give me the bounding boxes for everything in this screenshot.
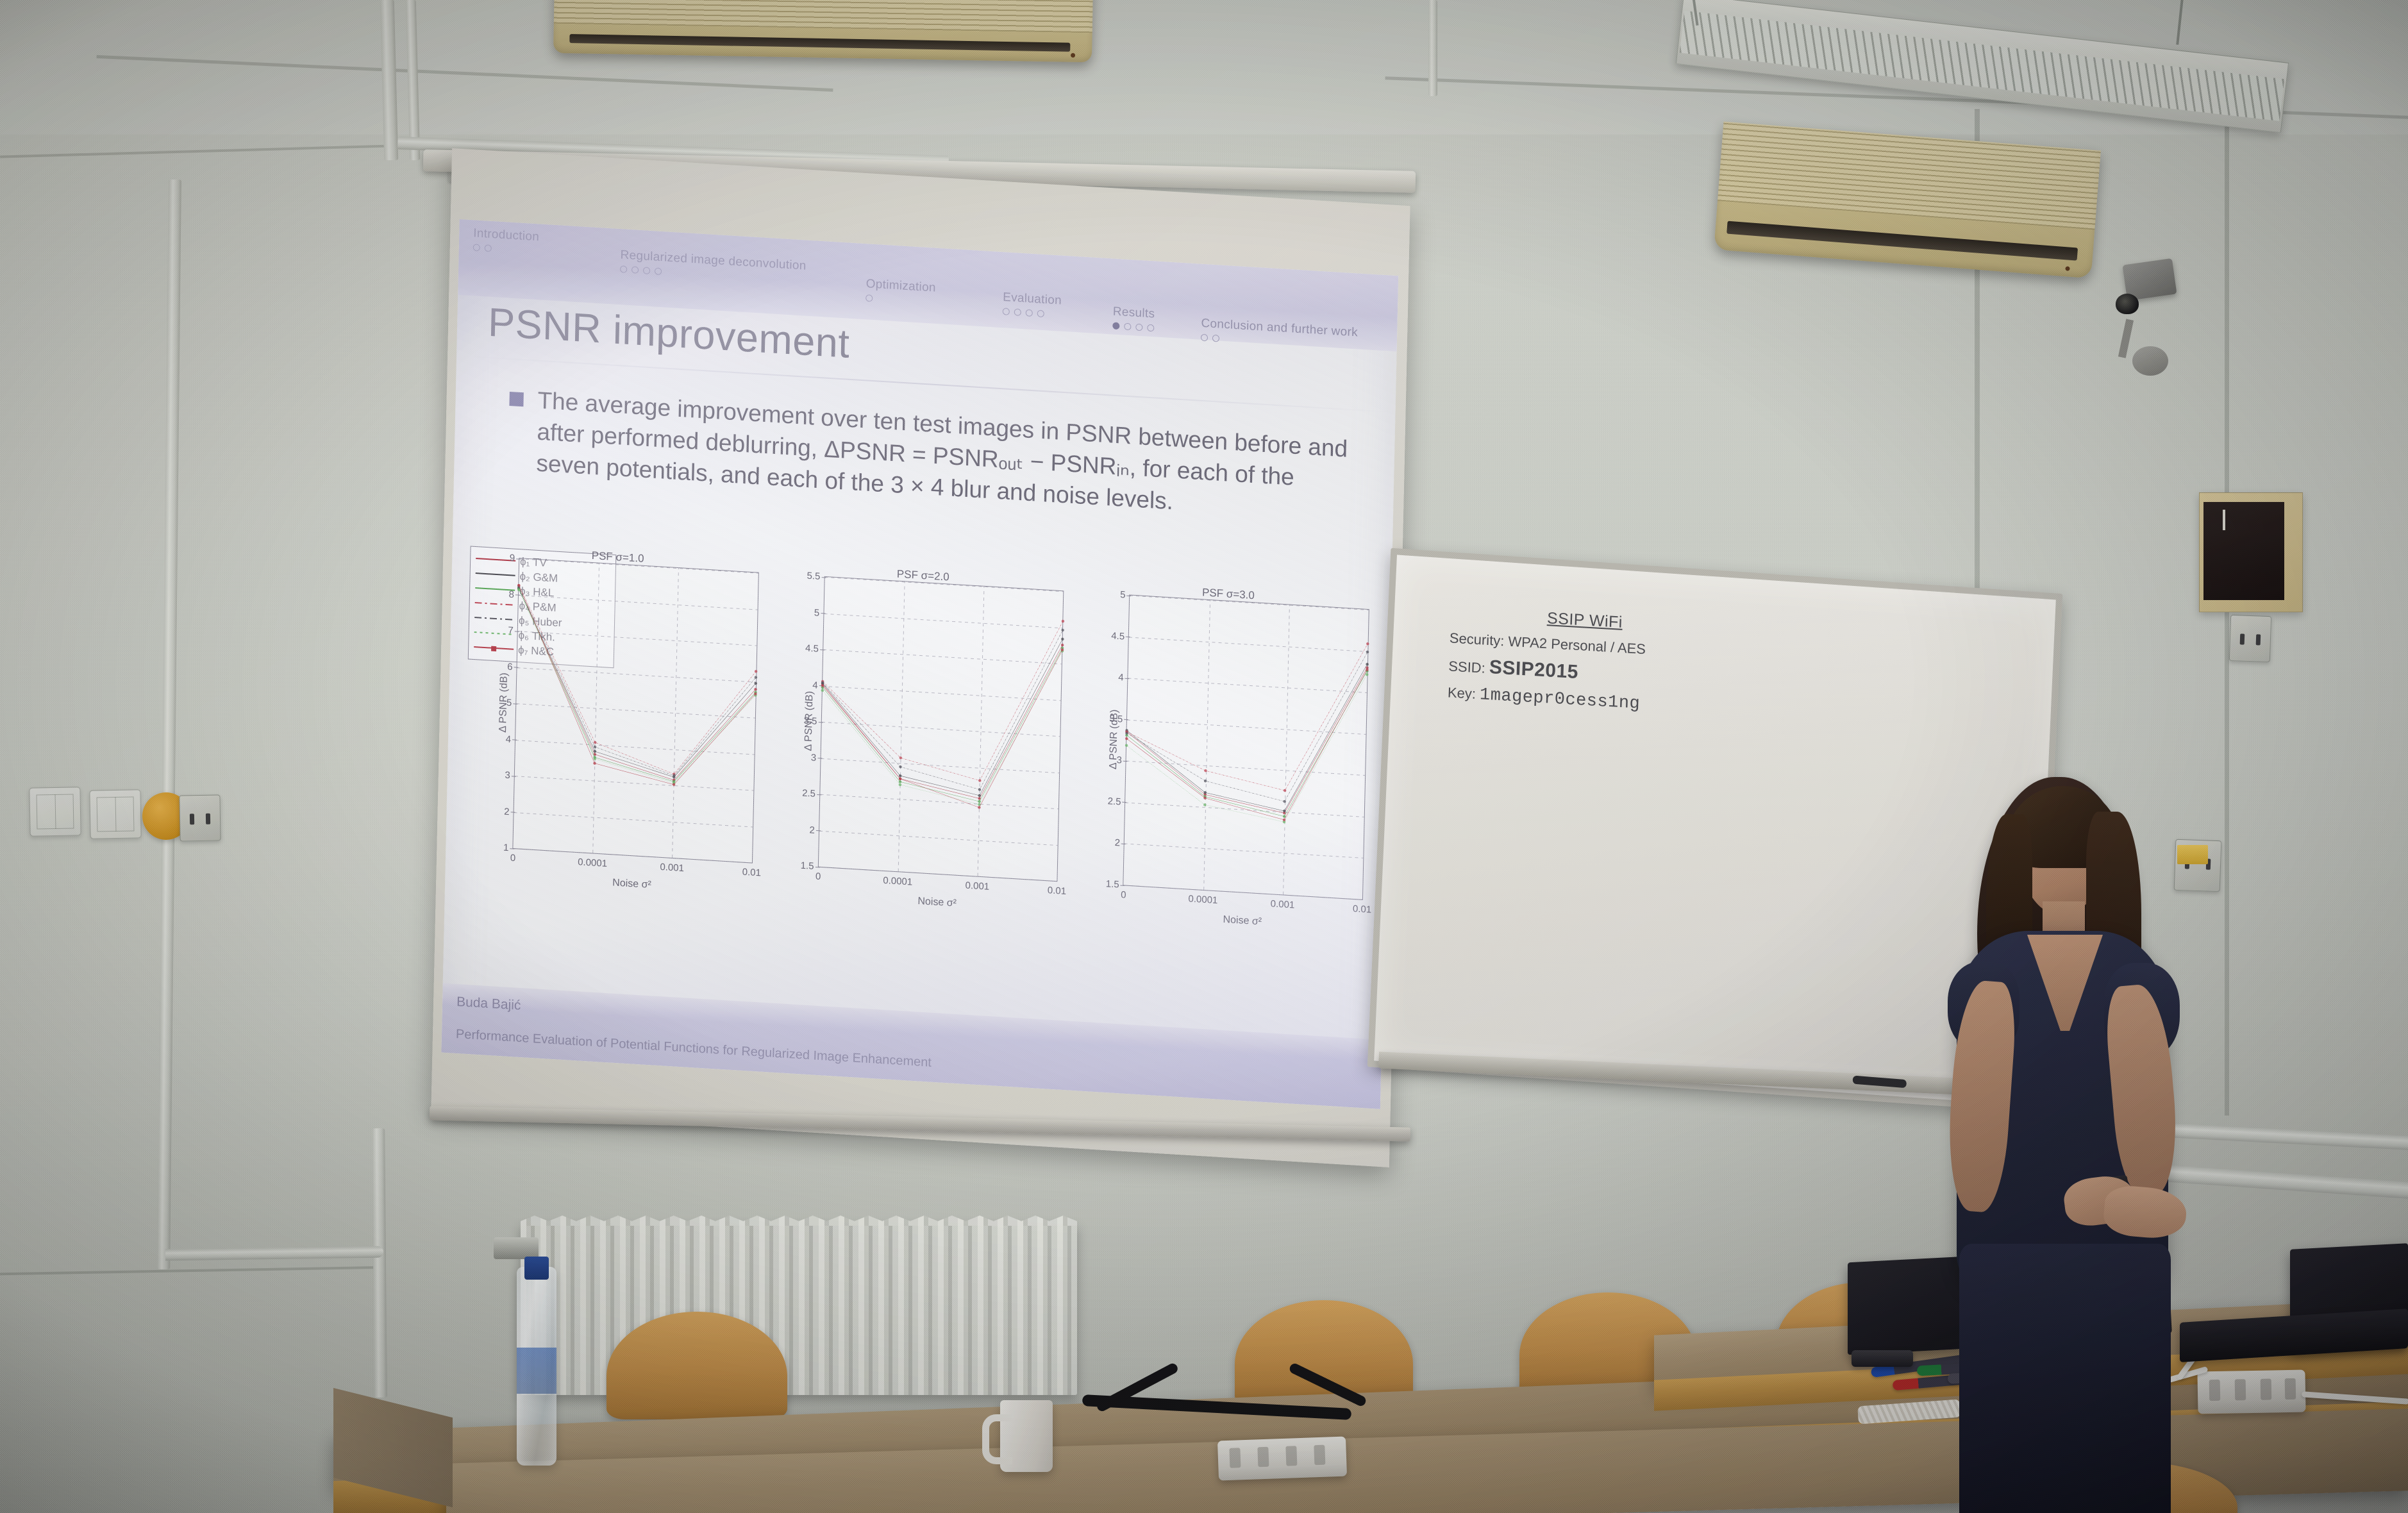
series-line-ϕ₁ TV — [820, 631, 1062, 803]
nav-item-results[interactable]: Results — [1112, 305, 1155, 331]
y-tick-label: 3 — [1116, 755, 1122, 765]
nav-dots-introduction — [473, 244, 539, 255]
gridline-horizontal — [513, 848, 751, 863]
wifi-ssid-value: SSIP2015 — [1489, 656, 1578, 683]
series-line-ϕ₂ G&M — [1126, 650, 1367, 816]
y-tick-label: 2.5 — [802, 788, 815, 799]
series-line-ϕ₂ G&M — [515, 589, 757, 782]
series-marker — [755, 670, 758, 673]
y-tick-label: 4.5 — [805, 643, 819, 655]
series-marker — [978, 788, 981, 791]
series-line-ϕ₃ H&L — [820, 633, 1062, 806]
legend-swatch-7 — [474, 643, 514, 655]
lecture-room-photo: Introduction Regularized image deconvolu… — [0, 0, 2408, 1513]
series-marker — [1283, 789, 1287, 792]
footer-author: Buda Bajić — [456, 994, 521, 1014]
wifi-info-card: SSIP WiFi Security: WPA2 Personal / AES … — [1447, 603, 1719, 718]
whiteboard-eraser[interactable] — [1852, 1076, 1907, 1089]
y-tick-label: 8 — [508, 589, 514, 599]
y-tick-label: 3.5 — [1109, 713, 1123, 724]
wall-outlet-right[interactable] — [2229, 615, 2271, 662]
series-marker — [898, 783, 901, 787]
gridline-horizontal — [1124, 885, 1362, 899]
series-line-ϕ₅ Huber — [820, 615, 1062, 794]
series-marker — [594, 741, 597, 744]
presenter — [1930, 769, 2212, 1513]
y-tick-label: 5.5 — [807, 571, 820, 582]
plot-area-3: Δ PSNR (dB) Noise σ² 1.522.533.544.5500.… — [1123, 595, 1369, 900]
y-tick-label: 1 — [503, 842, 509, 853]
nav-dots-results — [1112, 322, 1155, 331]
light-switch-right[interactable] — [89, 789, 141, 839]
chart-series-layer-3 — [1125, 596, 1368, 849]
nav-dots-optimization — [865, 294, 935, 306]
series-marker — [1366, 651, 1369, 654]
camera-wall-mount — [2132, 346, 2168, 376]
presentation-remote-on-table[interactable] — [1852, 1350, 1913, 1367]
wifi-ssid-label: SSID: — [1448, 658, 1485, 676]
series-marker — [1366, 642, 1369, 646]
bullet-square-icon — [509, 392, 523, 406]
chart-psf-3: PSF σ=3.0 Δ PSNR (dB) Noise σ² 1.522.533… — [1068, 577, 1381, 955]
series-marker — [1366, 673, 1369, 676]
x-axis-label-2: Noise σ² — [917, 896, 957, 910]
presenter-dress-skirt — [1959, 1244, 2171, 1513]
plot-area-2: Δ PSNR (dB) Noise σ² 1.522.533.544.555.5… — [818, 576, 1064, 882]
chart-psf-1: ϕ₁ TVϕ₂ G&Mϕ₃ H&Lϕ₄ P&Mϕ₅ Huberϕ₆ Tikh.ϕ… — [458, 540, 771, 918]
x-axis-label-1: Noise σ² — [612, 877, 651, 891]
x-tick-label: 0.001 — [1271, 898, 1295, 910]
slide-bullet: The average improvement over ten test im… — [508, 383, 1350, 528]
legend-swatch-4 — [475, 599, 515, 610]
series-line-ϕ₄ P&M — [515, 585, 757, 779]
light-switch-left[interactable] — [29, 787, 81, 836]
y-tick-label: 5 — [1120, 589, 1126, 600]
series-marker — [1061, 637, 1064, 640]
series-line-ϕ₆ Tikh. — [820, 637, 1062, 809]
water-bottle-cap — [524, 1257, 549, 1280]
nav-dots-evaluation — [1003, 308, 1062, 319]
series-line-ϕ₂ G&M — [820, 624, 1062, 800]
nav-item-introduction[interactable]: Introduction — [473, 226, 540, 255]
y-tick-label: 4 — [812, 680, 818, 690]
series-line-ϕ₁ TV — [515, 589, 757, 785]
series-marker — [1125, 737, 1128, 740]
series-marker — [1283, 800, 1287, 803]
radiator — [521, 1223, 1077, 1395]
series-line-ϕ₄ P&M — [821, 606, 1063, 785]
wifi-security-value: WPA2 Personal / AES — [1508, 633, 1646, 657]
water-bottle-label — [517, 1348, 556, 1394]
y-tick-label: 3 — [811, 752, 817, 763]
y-tick-label: 2 — [504, 806, 510, 817]
series-marker — [1061, 628, 1064, 631]
plot-area-1: Δ PSNR (dB) Noise σ² 12345678900.00010.0… — [512, 558, 758, 863]
series-marker — [1366, 663, 1369, 666]
y-tick-label: 4 — [1118, 672, 1124, 683]
coffee-mug-handle — [982, 1414, 1012, 1464]
x-tick-label: 0.01 — [1048, 885, 1067, 897]
series-marker — [1125, 744, 1128, 747]
x-tick-label: 0.0001 — [1188, 894, 1217, 907]
series-marker — [1061, 644, 1064, 647]
gridline-horizontal — [819, 867, 1057, 882]
camera-lens-icon — [2116, 294, 2139, 314]
slide-footer: Buda Bajić Performance Evaluation of Pot… — [441, 983, 1382, 1109]
legend-swatch-5 — [474, 614, 514, 625]
series-marker — [1205, 769, 1208, 773]
radiator-valve[interactable] — [494, 1237, 539, 1259]
series-marker — [594, 746, 597, 749]
dark-panel — [2203, 502, 2284, 600]
legend-swatch-2 — [476, 569, 515, 581]
series-marker — [978, 806, 981, 809]
series-line-ϕ₅ Huber — [515, 587, 757, 780]
y-tick-label: 6 — [507, 661, 513, 672]
nav-item-evaluation[interactable]: Evaluation — [1003, 290, 1062, 319]
nav-item-optimization[interactable]: Optimization — [865, 277, 936, 306]
chair-back-2[interactable] — [1235, 1300, 1413, 1407]
power-strip-right[interactable] — [2197, 1370, 2305, 1414]
series-marker — [593, 762, 596, 765]
x-axis-label-3: Noise σ² — [1223, 914, 1262, 928]
series-line-ϕ₆ Tikh. — [515, 590, 758, 788]
x-tick-label: 0.0001 — [883, 875, 912, 888]
bullet-text: The average improvement over ten test im… — [536, 385, 1350, 528]
wall-pipe-vertical — [372, 1128, 387, 1398]
gridline-horizontal — [819, 830, 1058, 845]
y-tick-label: 4.5 — [1111, 630, 1125, 642]
legend-marker — [491, 646, 496, 651]
y-tick-label: 4 — [506, 733, 512, 744]
x-tick-label: 0 — [815, 871, 821, 882]
wall-conduit — [1428, 0, 1437, 96]
chart-series-layer-1 — [514, 558, 758, 812]
wifi-security-label: Security: — [1450, 630, 1505, 649]
series-line-ϕ₆ Tikh. — [1125, 660, 1367, 827]
series-line-ϕ₄ P&M — [1126, 630, 1367, 796]
projection-screen: Introduction Regularized image deconvolu… — [431, 148, 1410, 1167]
gridline-horizontal — [514, 812, 753, 827]
nav-item-conclusion[interactable]: Conclusion and further work — [1201, 317, 1358, 351]
x-tick-label: 0.01 — [1353, 903, 1372, 915]
y-tick-label: 2.5 — [1107, 796, 1121, 807]
series-marker — [1061, 620, 1064, 623]
series-marker — [978, 779, 982, 782]
charts-row: ϕ₁ TVϕ₂ G&Mϕ₃ H&Lϕ₄ P&Mϕ₅ Huberϕ₆ Tikh.ϕ… — [458, 540, 1382, 955]
x-tick-label: 0.0001 — [578, 857, 607, 869]
footer-talk-title: Performance Evaluation of Potential Func… — [456, 1027, 932, 1071]
wall-outlet[interactable] — [179, 794, 221, 841]
chart-series-layer-2 — [819, 577, 1063, 830]
x-tick-label: 0 — [1121, 889, 1126, 900]
series-line-ϕ₇ N&C — [1125, 655, 1367, 824]
presentation-slide: Introduction Regularized image deconvolu… — [441, 219, 1398, 1109]
y-tick-label: 9 — [510, 553, 515, 564]
chart-psf-2: PSF σ=2.0 Δ PSNR (dB) Noise σ² 1.522.533… — [763, 559, 1076, 937]
wifi-key-label: Key: — [1448, 684, 1476, 702]
y-tick-label: 1.5 — [801, 860, 814, 872]
y-tick-label: 7 — [508, 625, 514, 636]
chair-back-1[interactable] — [606, 1312, 787, 1419]
series-marker — [1283, 815, 1286, 818]
wall-panel-frame — [2199, 492, 2303, 612]
x-tick-label: 0.01 — [742, 867, 762, 879]
series-line-ϕ₃ H&L — [515, 589, 758, 787]
y-tick-label: 2 — [809, 824, 815, 835]
x-tick-label: 0.001 — [660, 862, 684, 874]
y-tick-label: 1.5 — [1106, 878, 1119, 890]
power-strip-center[interactable] — [1217, 1437, 1347, 1481]
nav-item-deconvolution[interactable]: Regularized image deconvolution — [620, 248, 807, 283]
series-line-ϕ₇ N&C — [820, 635, 1062, 812]
y-tick-label: 3 — [505, 770, 510, 781]
x-tick-label: 0 — [510, 853, 516, 864]
wifi-key-value: 1magepr0cess1ng — [1479, 685, 1640, 714]
x-tick-label: 0.001 — [965, 880, 989, 892]
series-marker — [1203, 803, 1207, 807]
y-tick-label: 5 — [506, 698, 512, 708]
series-marker — [899, 765, 902, 769]
series-marker — [1204, 780, 1207, 783]
y-tick-label: 2 — [1115, 837, 1121, 848]
y-tick-label: 5 — [814, 607, 820, 618]
air-conditioner-left — [553, 0, 1093, 62]
y-tick-label: 3.5 — [803, 715, 817, 727]
